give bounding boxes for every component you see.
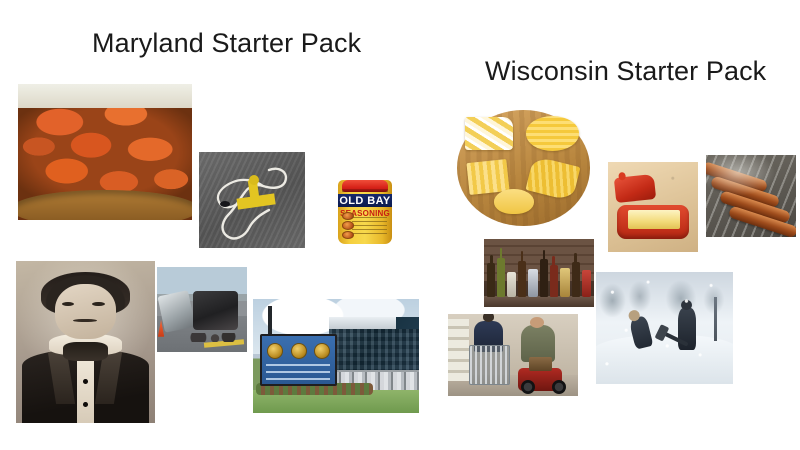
grocery-store-illustration <box>448 314 578 396</box>
beer-can-3 <box>560 268 570 298</box>
cheese-single-slice <box>494 189 534 214</box>
poe-illustration <box>16 261 155 423</box>
chalk-outline-icon <box>199 152 305 248</box>
butter-dish-illustration <box>608 162 698 252</box>
wisconsin-panel-title: Wisconsin Starter Pack <box>485 58 766 85</box>
cheese-round-stack <box>526 116 579 151</box>
old-bay-lid <box>342 180 389 192</box>
old-bay-brand-text: OLD BAY <box>339 195 390 207</box>
beer-bottle-2 <box>497 258 505 297</box>
beer-can-4 <box>582 270 591 297</box>
poe-eye-right <box>92 302 105 306</box>
beer-bottle-3 <box>518 261 526 298</box>
wooden-cutting-board <box>457 110 589 225</box>
poe-face <box>55 284 116 339</box>
shelf-surface <box>484 296 594 307</box>
image-edgar-allan-poe-portrait <box>16 261 155 423</box>
image-red-butter-dish <box>608 162 698 252</box>
image-grilled-bratwurst <box>706 155 796 237</box>
beer-bottle-4 <box>540 259 548 297</box>
image-highway-car-crash <box>157 267 247 352</box>
building-roofline <box>329 317 395 328</box>
beer-can-2 <box>528 269 538 298</box>
old-bay-can-body: OLD BAY SEASONING <box>338 180 391 244</box>
shopping-cart <box>469 345 510 385</box>
image-old-bay-seasoning-can: OLD BAY SEASONING <box>330 172 400 250</box>
image-grocery-store-scooter <box>448 314 578 396</box>
image-steamed-blue-crabs <box>18 84 192 220</box>
grill-smoke <box>706 155 796 237</box>
old-bay-medallion-3 <box>342 231 354 239</box>
poe-shirt <box>77 358 94 423</box>
old-bay-fine-print <box>352 217 387 236</box>
image-beer-bottle-collection <box>484 239 594 307</box>
image-cheese-board <box>456 108 591 228</box>
maryland-panel-title: Maryland Starter Pack <box>92 30 361 57</box>
bratwurst-illustration <box>706 155 796 237</box>
beer-bottle-6 <box>572 262 580 297</box>
chalk-outline-illustration <box>199 152 305 248</box>
agency-seal-1 <box>267 343 283 359</box>
beer-bottle-1 <box>487 263 495 297</box>
beer-shelf-illustration <box>484 239 594 307</box>
store-shelving <box>448 319 469 381</box>
blizzard-illustration <box>596 272 733 384</box>
poe-button-2 <box>83 402 88 407</box>
crabs-illustration <box>18 84 192 220</box>
poe-cravat <box>63 342 108 361</box>
nsa-illustration <box>253 299 419 413</box>
scooter-basket <box>529 357 552 372</box>
sign-lettering <box>266 364 330 380</box>
falling-snowflakes <box>596 272 733 384</box>
cheese-marble-block <box>465 117 513 149</box>
image-blizzard-snow-shoveling <box>596 272 733 384</box>
old-bay-name-band: OLD BAY <box>338 194 391 207</box>
crash-debris <box>188 333 240 342</box>
nsa-entrance-sign <box>260 334 337 386</box>
image-nsa-headquarters <box>253 299 419 413</box>
cheese-slice-fan <box>525 156 580 201</box>
poe-eye-left <box>62 302 75 306</box>
agency-seal-3 <box>314 343 330 359</box>
light-pole <box>268 306 272 338</box>
old-bay-medallion-2 <box>342 221 354 229</box>
beer-can-1 <box>507 272 516 298</box>
beer-bottle-5 <box>550 265 558 298</box>
butter-stick <box>628 210 680 230</box>
butter-dish-lid <box>614 174 656 203</box>
agency-seal-2 <box>291 343 307 359</box>
wrecked-vehicle <box>193 291 238 330</box>
starter-pack-meme: Maryland Starter Pack Wisconsin Starter … <box>0 0 800 450</box>
car-crash-illustration <box>157 267 247 352</box>
image-chalk-body-outline <box>199 152 305 248</box>
